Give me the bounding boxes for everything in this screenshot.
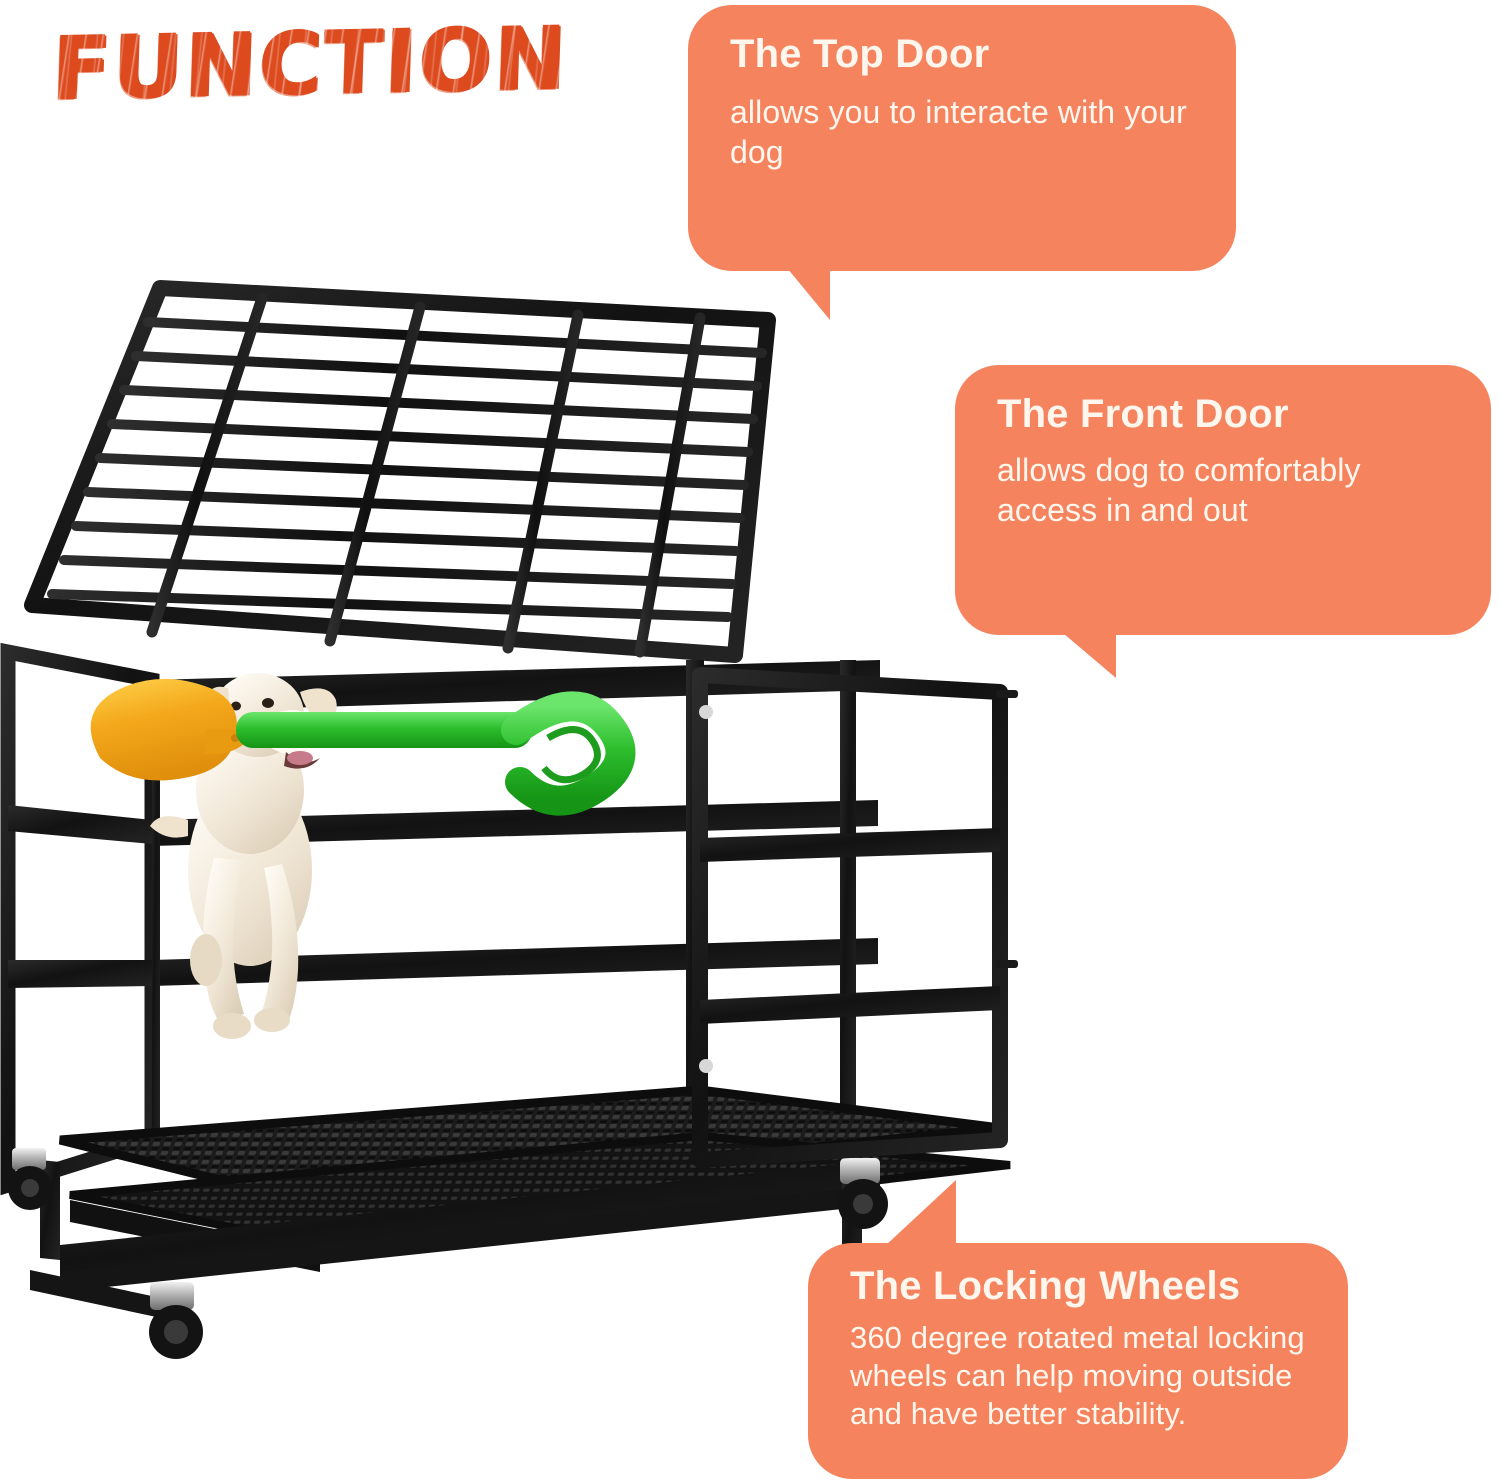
callout-front-door: The Front Door allows dog to comfortably… <box>955 365 1491 635</box>
infographic-page: FUNCTION <box>0 0 1500 1484</box>
caster-wheel <box>8 1148 52 1210</box>
callout-locking-wheels: The Locking Wheels 360 degree rotated me… <box>808 1243 1348 1479</box>
callout-locking-wheels-body: 360 degree rotated metal locking wheels … <box>850 1319 1314 1432</box>
caster-wheel <box>149 1282 203 1359</box>
dog-crate-illustration <box>0 260 1060 1370</box>
callout-front-door-body: allows dog to comfortably access in and … <box>997 451 1457 530</box>
callout-top-door: The Top Door allows you to interacte wit… <box>688 5 1236 271</box>
callout-top-door-heading: The Top Door <box>730 31 1202 77</box>
front-door-panel <box>699 675 1018 1160</box>
callout-locking-wheels-heading: The Locking Wheels <box>850 1263 1314 1309</box>
callout-front-door-heading: The Front Door <box>997 391 1457 437</box>
callout-top-door-body: allows you to interacte with your dog <box>730 93 1202 172</box>
top-door-panel <box>32 288 768 655</box>
page-title: FUNCTION <box>50 9 569 120</box>
